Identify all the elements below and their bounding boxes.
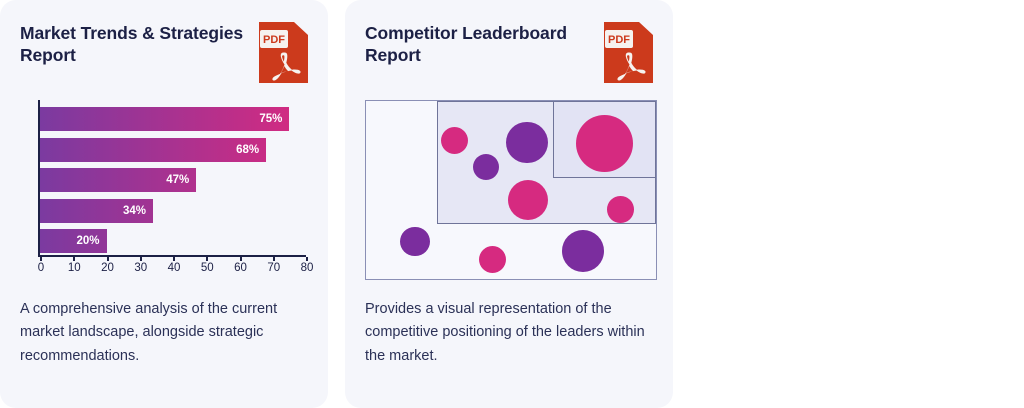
x-axis-tick: 60 bbox=[240, 257, 242, 261]
bar-series: 75% 68% 47% 34% 20% bbox=[40, 107, 306, 253]
tick-mark bbox=[140, 257, 142, 261]
tick-label: 10 bbox=[68, 262, 81, 274]
x-axis-tick: 70 bbox=[273, 257, 275, 261]
bar-value-label: 34% bbox=[123, 205, 146, 217]
tick-mark bbox=[240, 257, 242, 261]
x-axis-tick: 40 bbox=[173, 257, 175, 261]
bar-value-label: 20% bbox=[76, 235, 99, 247]
table-row: 68% bbox=[40, 138, 266, 162]
tick-mark bbox=[206, 257, 208, 261]
bubble-data-point bbox=[479, 246, 506, 273]
bubble-data-point bbox=[508, 180, 549, 221]
bubble-data-point bbox=[576, 115, 633, 172]
bar-value-label: 68% bbox=[236, 144, 259, 156]
tick-label: 50 bbox=[201, 262, 214, 274]
x-axis-tick: 50 bbox=[206, 257, 208, 261]
tick-label: 0 bbox=[38, 262, 44, 274]
card-header: Competitor Leaderboard Report PDF bbox=[365, 22, 653, 83]
bubble-data-point bbox=[400, 227, 430, 257]
tick-label: 30 bbox=[134, 262, 147, 274]
tick-label: 70 bbox=[267, 262, 280, 274]
bubble-chart bbox=[365, 100, 657, 280]
table-row: 34% bbox=[40, 199, 153, 223]
bar-value-label: 75% bbox=[259, 113, 282, 125]
table-row: 47% bbox=[40, 168, 196, 192]
x-axis-tick: 0 bbox=[40, 257, 42, 261]
bubble-data-point bbox=[506, 122, 548, 164]
card-body: Market Trends & Strategies Report PDF bbox=[0, 0, 328, 282]
bar-value-label: 47% bbox=[166, 174, 189, 186]
card-description: Provides a visual representation of the … bbox=[345, 298, 673, 368]
card-header: Market Trends & Strategies Report PDF bbox=[20, 22, 308, 83]
pdf-file-icon[interactable]: PDF bbox=[259, 22, 308, 83]
tick-label: 80 bbox=[301, 262, 314, 274]
svg-text:PDF: PDF bbox=[263, 34, 285, 46]
bubble-data-point bbox=[562, 230, 604, 272]
x-axis-tick: 10 bbox=[73, 257, 75, 261]
x-axis-tick: 20 bbox=[107, 257, 109, 261]
tick-mark bbox=[173, 257, 175, 261]
report-card-competitor-leaderboard[interactable]: Competitor Leaderboard Report PDF Provid… bbox=[345, 0, 673, 408]
tick-label: 20 bbox=[101, 262, 114, 274]
bar-chart-plot-area: 75% 68% 47% 34% 20% bbox=[20, 100, 308, 282]
report-card-market-trends[interactable]: Market Trends & Strategies Report PDF bbox=[0, 0, 328, 408]
tick-mark bbox=[73, 257, 75, 261]
table-row: 20% bbox=[40, 229, 107, 253]
bubble-data-point bbox=[607, 196, 634, 223]
table-row: 75% bbox=[40, 107, 289, 131]
x-axis-tick: 80 bbox=[306, 257, 308, 261]
tick-mark bbox=[40, 257, 42, 261]
tick-mark bbox=[273, 257, 275, 261]
x-axis-tick: 30 bbox=[140, 257, 142, 261]
x-axis-ticks: 01020304050607080 bbox=[38, 257, 306, 279]
card-description: A comprehensive analysis of the current … bbox=[0, 298, 328, 368]
card-body: Competitor Leaderboard Report PDF bbox=[345, 0, 673, 280]
tick-mark bbox=[107, 257, 109, 261]
tick-label: 60 bbox=[234, 262, 247, 274]
report-cards-container: Market Trends & Strategies Report PDF bbox=[0, 0, 1024, 408]
tick-mark bbox=[306, 257, 308, 261]
svg-text:PDF: PDF bbox=[608, 34, 630, 46]
page-title: Market Trends & Strategies Report bbox=[20, 22, 251, 67]
page-title: Competitor Leaderboard Report bbox=[365, 22, 596, 67]
bar-chart: 75% 68% 47% 34% 20% bbox=[20, 100, 308, 282]
pdf-file-icon[interactable]: PDF bbox=[604, 22, 653, 83]
tick-label: 40 bbox=[168, 262, 181, 274]
